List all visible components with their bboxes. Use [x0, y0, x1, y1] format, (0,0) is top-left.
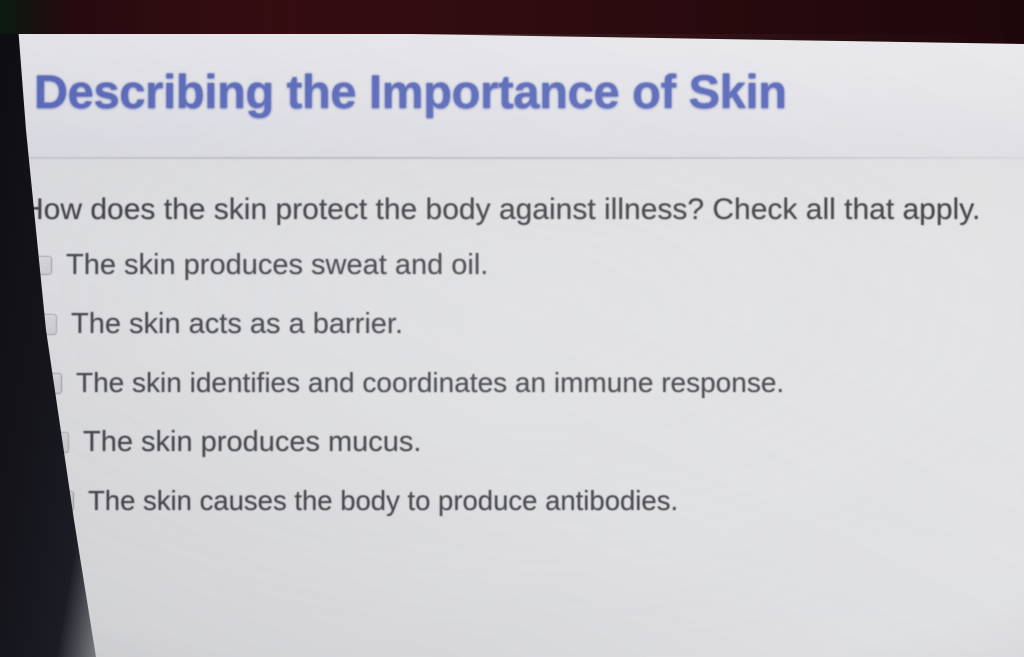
page-header: Describing the Importance of Skin	[0, 18, 1024, 158]
option-label-1: The skin produces sweat and oil.	[66, 249, 488, 282]
option-row-1[interactable]: The skin produces sweat and oil.	[32, 249, 488, 282]
option-label-5: The skin causes the body to produce anti…	[88, 485, 678, 517]
question-text: How does the skin protect the body again…	[22, 193, 980, 227]
page-title: Describing the Importance of Skin	[34, 64, 787, 119]
option-row-3[interactable]: The skin identifies and coordinates an i…	[42, 367, 784, 399]
checkbox-unchecked-icon[interactable]	[32, 256, 52, 275]
checkbox-unchecked-icon[interactable]	[54, 491, 74, 511]
option-row-2[interactable]: The skin acts as a barrier.	[36, 308, 403, 341]
quiz-page: Describing the Importance of Skin How do…	[0, 18, 1024, 657]
photographed-screen-scene: Describing the Importance of Skin How do…	[0, 0, 1024, 657]
question-body: How does the skin protect the body again…	[0, 159, 1024, 657]
option-row-5[interactable]: The skin causes the body to produce anti…	[54, 485, 678, 517]
checkbox-unchecked-icon[interactable]	[36, 314, 57, 335]
checkbox-unchecked-icon[interactable]	[42, 373, 62, 394]
checkbox-unchecked-icon[interactable]	[48, 432, 69, 453]
option-label-4: The skin produces mucus.	[83, 426, 421, 459]
option-label-2: The skin acts as a barrier.	[71, 308, 403, 341]
option-row-4[interactable]: The skin produces mucus.	[48, 426, 421, 459]
option-label-3: The skin identifies and coordinates an i…	[76, 367, 784, 399]
